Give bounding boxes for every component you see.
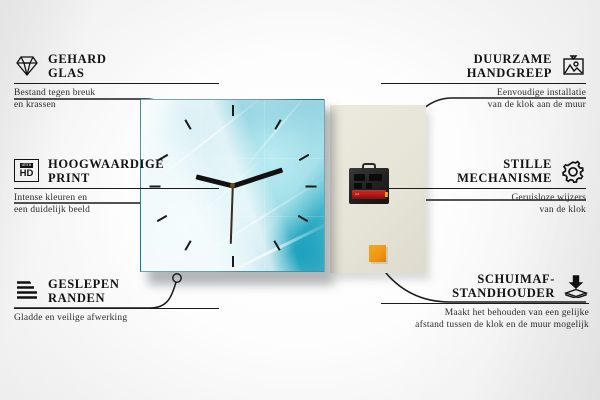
feature-title: HOOGWAARDIGEPRINT xyxy=(48,157,164,185)
feature-title: STILLEMECHANISME xyxy=(457,157,552,185)
infographic-canvas: AA xyxy=(0,0,600,400)
divider xyxy=(14,83,219,84)
ultra-hd-icon: ultra HD xyxy=(14,159,40,183)
feature-subtitle: Geruisloze wijzersvan de klok xyxy=(381,193,586,216)
movement-hanger xyxy=(362,163,376,171)
foam-spacer xyxy=(369,245,386,262)
feature-geslepen-randen: GESLEPENRANDEN Gladde en veilige afwerki… xyxy=(14,277,219,325)
divider xyxy=(381,188,586,189)
feature-subtitle: Gladde en veilige afwerking xyxy=(14,313,219,325)
feature-hoogwaardige-print: ultra HD HOOGWAARDIGEPRINT Intense kleur… xyxy=(14,157,219,216)
feature-title: DUURZAMEHANDGREEP xyxy=(467,52,552,80)
feature-duurzame-handgreep: DUURZAMEHANDGREEP Eenvoudige installatie… xyxy=(381,52,586,111)
battery-label: AA xyxy=(355,192,359,196)
clock-hub xyxy=(230,183,235,188)
picture-frame-icon xyxy=(560,54,586,78)
feature-subtitle: Eenvoudige installatievan de klok aan de… xyxy=(381,88,586,111)
feature-subtitle: Maakt het behouden van een gelijkeafstan… xyxy=(381,308,589,331)
feature-gehard-glas: GEHARDGLAS Bestand tegen breuken krassen xyxy=(14,52,219,111)
divider xyxy=(381,83,586,84)
feature-title: GESLEPENRANDEN xyxy=(48,277,120,305)
feature-schuimafstandhouder: SCHUIMAF-STANDHOUDER Maakt het behouden … xyxy=(381,272,589,331)
divider xyxy=(14,188,219,189)
beveled-edges-icon xyxy=(14,279,40,303)
gear-icon xyxy=(560,159,586,183)
feature-stille-mechanisme: STILLEMECHANISME Geruisloze wijzersvan d… xyxy=(381,157,586,216)
divider xyxy=(14,308,219,309)
divider xyxy=(381,303,589,304)
feature-subtitle: Intense kleuren eneen duidelijk beeld xyxy=(14,193,219,216)
feature-subtitle: Bestand tegen breuken krassen xyxy=(14,88,219,111)
press-down-pad-icon xyxy=(563,274,589,298)
feature-title: GEHARDGLAS xyxy=(48,52,106,80)
feature-title: SCHUIMAF-STANDHOUDER xyxy=(452,272,555,300)
diamond-icon xyxy=(14,54,40,78)
